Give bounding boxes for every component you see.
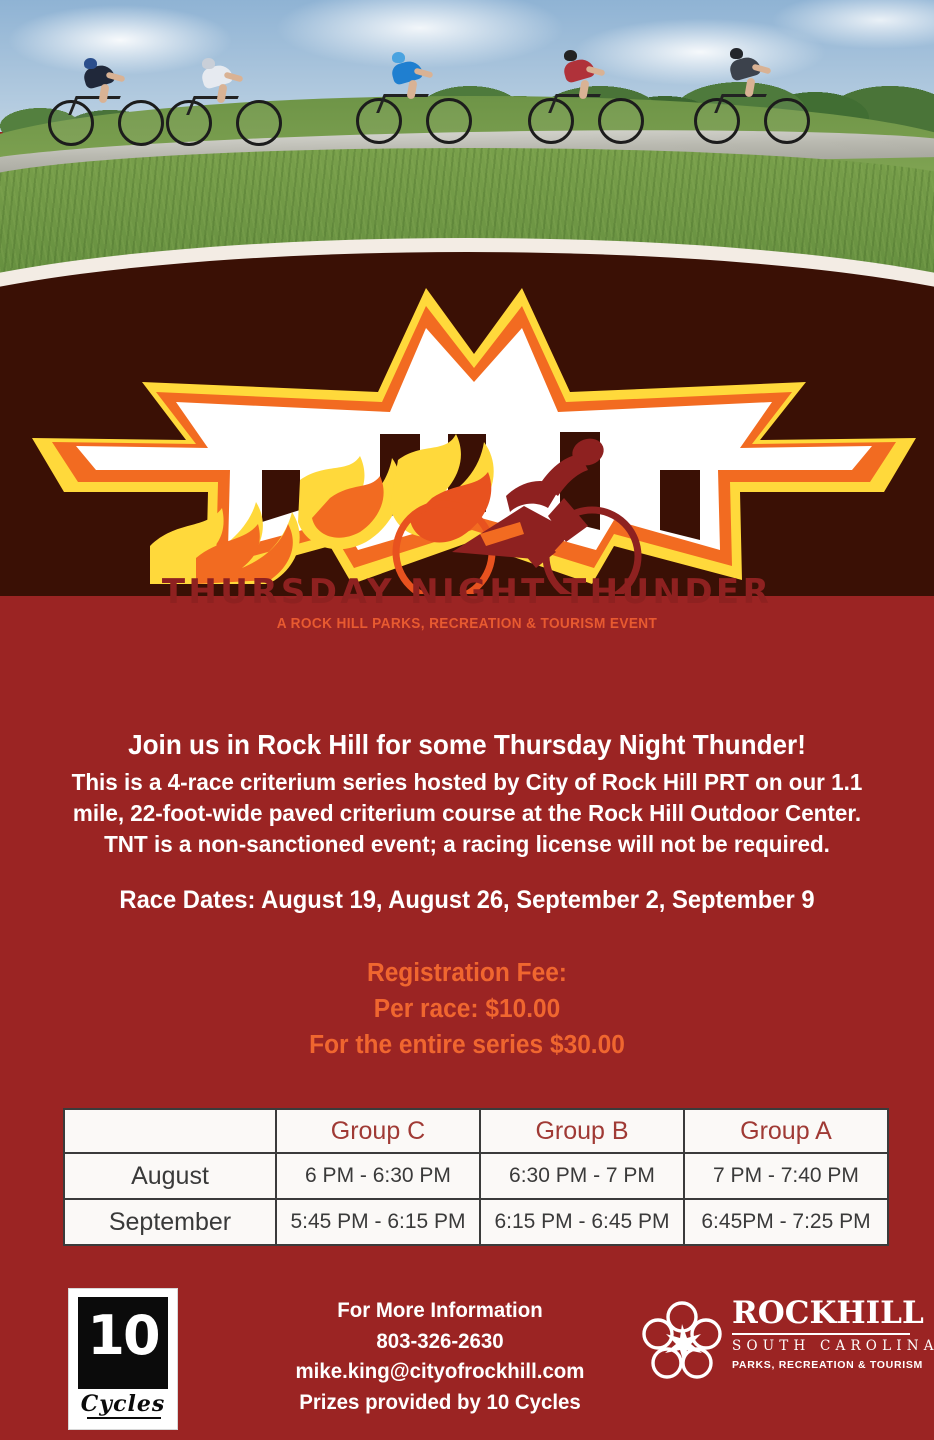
contact-email[interactable]: mike.king@cityofrockhill.com <box>222 1356 659 1387</box>
cell-september-group-a: 6:45PM - 7:25 PM <box>684 1199 888 1245</box>
ten-cycles-logo: 10 Cycles <box>68 1288 178 1430</box>
rock-hill-flower-icon <box>640 1300 724 1384</box>
row-label-september: September <box>64 1199 276 1245</box>
rock-hill-name: ROCKHILL <box>732 1298 912 1329</box>
prizes-note: Prizes provided by 10 Cycles <box>222 1387 659 1418</box>
ten-cycles-wordmark: Cycles <box>69 1391 177 1417</box>
description-line-2: mile, 22-foot-wide paved criterium cours… <box>50 798 885 829</box>
cell-august-group-a: 7 PM - 7:40 PM <box>684 1153 888 1199</box>
schedule-table: Group C Group B Group A August 6 PM - 6:… <box>63 1108 889 1246</box>
ten-cycles-number: 10 <box>78 1309 168 1363</box>
rock-hill-prt-logo: ROCKHILL SOUTH CAROLINA PARKS, RECREATIO… <box>640 1296 910 1396</box>
column-header-group-c: Group C <box>276 1109 480 1153</box>
table-row: August 6 PM - 6:30 PM 6:30 PM - 7 PM 7 P… <box>64 1153 888 1199</box>
fee-title: Registration Fee: <box>19 955 916 991</box>
row-label-august: August <box>64 1153 276 1199</box>
event-poster: THURSDAY NIGHT THUNDER A ROCK HILL PARKS… <box>0 0 934 1440</box>
rock-hill-state: SOUTH CAROLINA <box>732 1338 912 1354</box>
cell-august-group-c: 6 PM - 6:30 PM <box>276 1153 480 1199</box>
table-corner-cell <box>64 1109 276 1153</box>
column-header-group-a: Group A <box>684 1109 888 1153</box>
intro-copy: Join us in Rock Hill for some Thursday N… <box>0 728 934 915</box>
column-header-group-b: Group B <box>480 1109 684 1153</box>
contact-phone[interactable]: 803-326-2630 <box>222 1326 659 1357</box>
description-line-1: This is a 4-race criterium series hosted… <box>50 767 885 798</box>
ten-cycles-black-block: 10 <box>78 1297 168 1389</box>
contact-heading: For More Information <box>222 1295 659 1326</box>
contact-block: For More Information 803-326-2630 mike.k… <box>222 1295 659 1417</box>
tnt-subtitle: A ROCK HILL PARKS, RECREATION & TOURISM … <box>28 616 906 632</box>
fee-per-race: Per race: $10.00 <box>19 991 916 1027</box>
tnt-logo-mark <box>0 284 934 594</box>
race-dates: Race Dates: August 19, August 26, Septem… <box>23 886 910 915</box>
rock-hill-department: PARKS, RECREATION & TOURISM <box>732 1359 912 1371</box>
tnt-wordmark: THURSDAY NIGHT THUNDER <box>0 572 934 612</box>
cell-september-group-c: 5:45 PM - 6:15 PM <box>276 1199 480 1245</box>
fee-series: For the entire series $30.00 <box>19 1027 916 1063</box>
registration-fee-block: Registration Fee: Per race: $10.00 For t… <box>19 955 916 1064</box>
ten-cycles-underline <box>87 1417 161 1419</box>
headline: Join us in Rock Hill for some Thursday N… <box>23 728 910 763</box>
table-row: September 5:45 PM - 6:15 PM 6:15 PM - 6:… <box>64 1199 888 1245</box>
rock-hill-text-lockup: ROCKHILL SOUTH CAROLINA PARKS, RECREATIO… <box>732 1298 912 1371</box>
cell-august-group-b: 6:30 PM - 7 PM <box>480 1153 684 1199</box>
cell-september-group-b: 6:15 PM - 6:45 PM <box>480 1199 684 1245</box>
rock-hill-rule <box>732 1333 910 1335</box>
table-header-row: Group C Group B Group A <box>64 1109 888 1153</box>
description-line-3: TNT is a non-sanctioned event; a racing … <box>50 829 885 860</box>
schedule-table-wrapper: Group C Group B Group A August 6 PM - 6:… <box>63 1108 873 1246</box>
